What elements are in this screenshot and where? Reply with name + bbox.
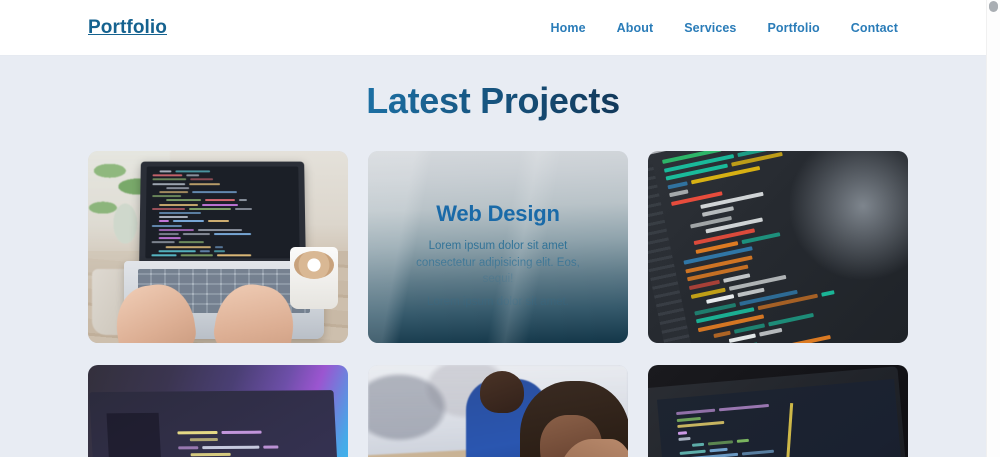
project-card-3[interactable] [648, 151, 908, 343]
primary-navigation: Home About Services Portfolio Contact [551, 21, 899, 35]
project-card-5[interactable] [368, 365, 628, 457]
vertical-scrollbar[interactable] [986, 0, 1000, 457]
project-image-dark-laptop-code [648, 365, 908, 457]
project-card-4[interactable] [88, 365, 348, 457]
nav-link-contact[interactable]: Contact [851, 21, 898, 35]
project-card-2-text: Lorem ipsum dolor sit amet consectetur a… [403, 238, 593, 288]
page-viewport: Portfolio Home About Services Portfolio … [0, 0, 986, 457]
project-card-2-body: Web Design Lorem ipsum dolor sit amet co… [368, 151, 628, 343]
project-card-1[interactable] [88, 151, 348, 343]
nav-link-home[interactable]: Home [551, 21, 586, 35]
project-image-neon-editor [88, 365, 348, 457]
project-card-2-text-secondary: Lorem ipsum dolor sit amet. [427, 294, 569, 311]
scrollbar-thumb[interactable] [989, 1, 998, 12]
project-image-people-working [368, 365, 628, 457]
projects-grid: Web Design Lorem ipsum dolor sit amet co… [88, 151, 910, 457]
project-card-6[interactable] [648, 365, 908, 457]
nav-link-about[interactable]: About [617, 21, 654, 35]
nav-link-services[interactable]: Services [684, 21, 736, 35]
site-header: Portfolio Home About Services Portfolio … [0, 0, 986, 56]
project-card-2-title: Web Design [436, 201, 560, 227]
page-title: Latest Projects [0, 80, 986, 122]
project-image-laptop-desk [88, 151, 348, 343]
brand-logo[interactable]: Portfolio [88, 17, 167, 39]
project-image-php-code [648, 151, 908, 343]
project-card-2[interactable]: Web Design Lorem ipsum dolor sit amet co… [368, 151, 628, 343]
nav-link-portfolio[interactable]: Portfolio [767, 21, 819, 35]
